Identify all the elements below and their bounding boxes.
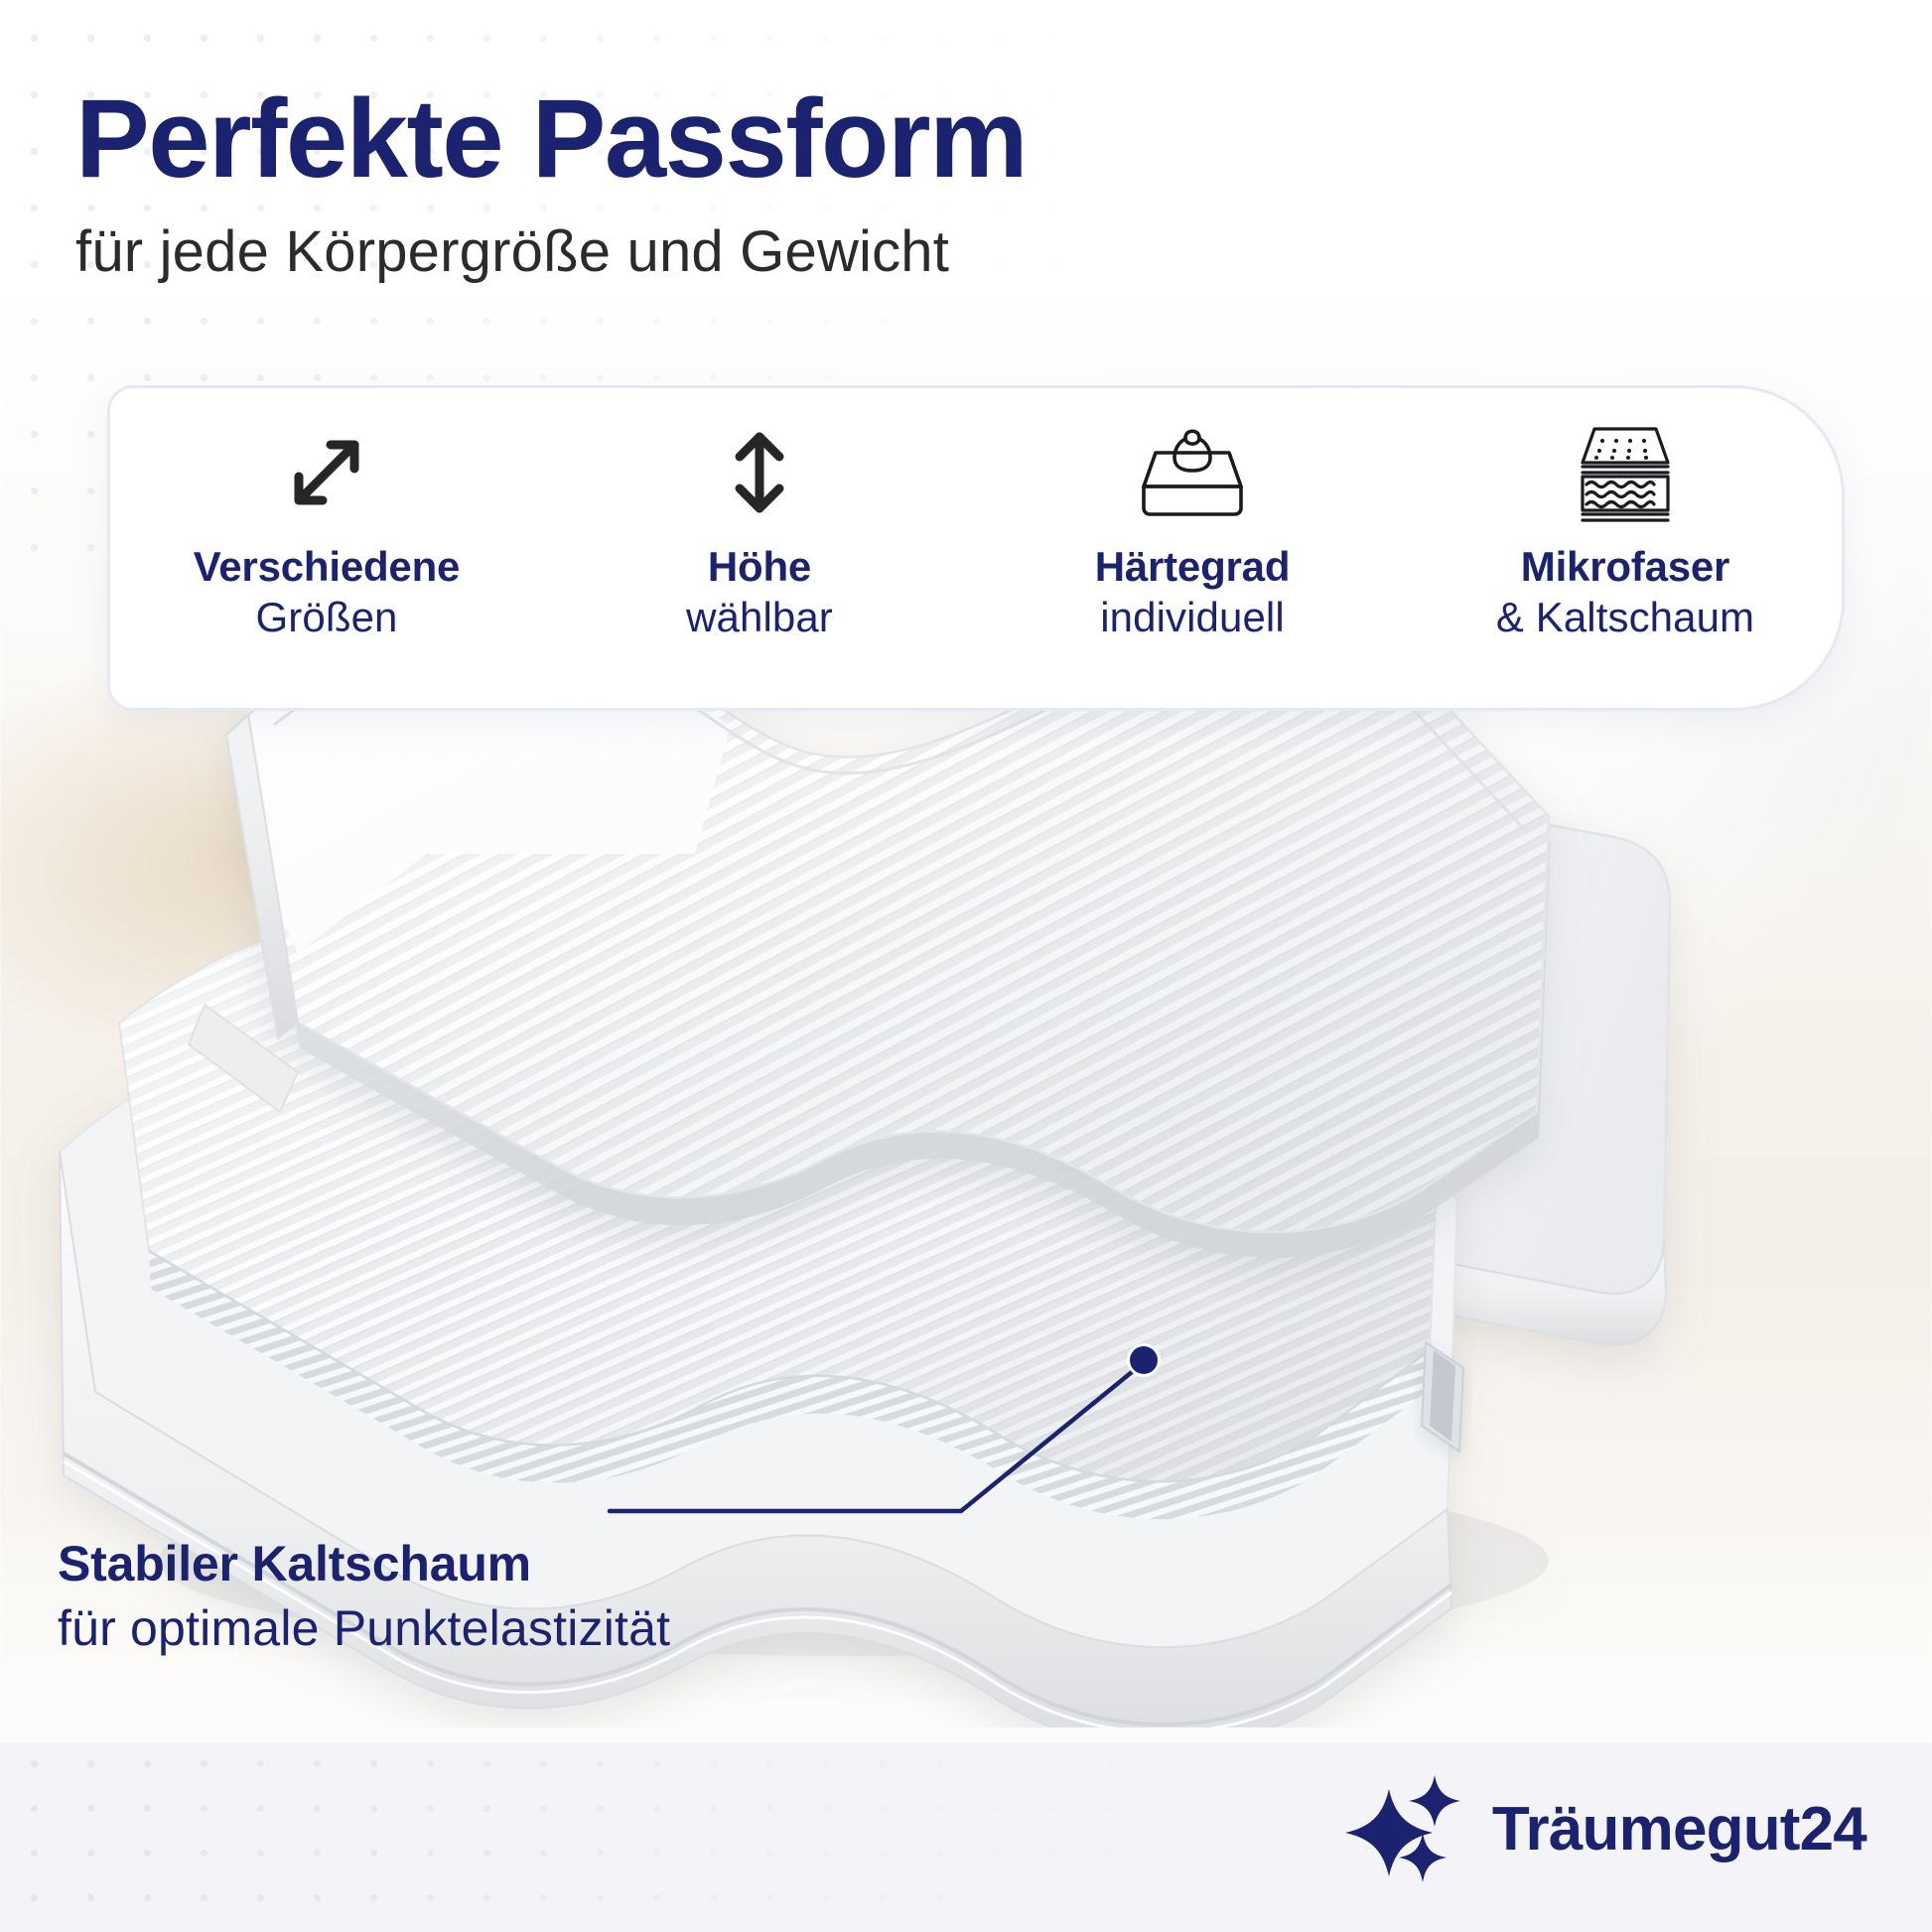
sparkle-stars-icon: [1339, 1771, 1488, 1888]
feature-card: Verschiedene Größen Höhe wählbar: [107, 385, 1845, 711]
callout-label: Stabiler Kaltschaum für optimale Punktel…: [58, 1537, 670, 1656]
footer-bar: Träumegut24: [0, 1742, 1932, 1932]
brand-name: Träumegut24: [1492, 1799, 1866, 1861]
mattress-layers-icon: [1567, 414, 1684, 531]
feature-title: Härtegrad: [1095, 545, 1291, 590]
header-block: Perfekte Passform für jede Körpergröße u…: [75, 83, 1565, 285]
feature-subtitle: individuell: [1100, 596, 1285, 640]
brand-logo[interactable]: Träumegut24: [1339, 1771, 1866, 1888]
diagonal-resize-arrow-icon: [275, 414, 378, 531]
feature-subtitle: Größen: [256, 596, 398, 640]
marketing-banner: Perfekte Passform für jede Körpergröße u…: [0, 0, 1932, 1932]
page-title: Perfekte Passform: [75, 83, 1565, 195]
callout-subtitle: für optimale Punktelastizität: [58, 1601, 670, 1656]
feature-item-groessen: Verschiedene Größen: [110, 388, 543, 639]
feature-title: Verschiedene: [194, 545, 460, 590]
feature-title: Höhe: [708, 545, 811, 590]
feature-title: Mikrofaser: [1521, 545, 1729, 590]
callout-title: Stabiler Kaltschaum: [58, 1537, 670, 1591]
feature-item-mikrofaser: Mikrofaser & Kaltschaum: [1409, 388, 1842, 639]
dot-pattern-footer: [0, 1733, 1489, 1932]
feature-item-hoehe: Höhe wählbar: [543, 388, 976, 639]
feature-item-haertegrad: Härtegrad individuell: [976, 388, 1409, 639]
feature-subtitle: wählbar: [686, 596, 833, 640]
feature-subtitle: & Kaltschaum: [1496, 596, 1754, 640]
page-subtitle: für jede Körpergröße und Gewicht: [75, 220, 1565, 285]
vertical-double-arrow-icon: [708, 414, 811, 531]
mattress-with-weight-icon: [1126, 414, 1259, 531]
